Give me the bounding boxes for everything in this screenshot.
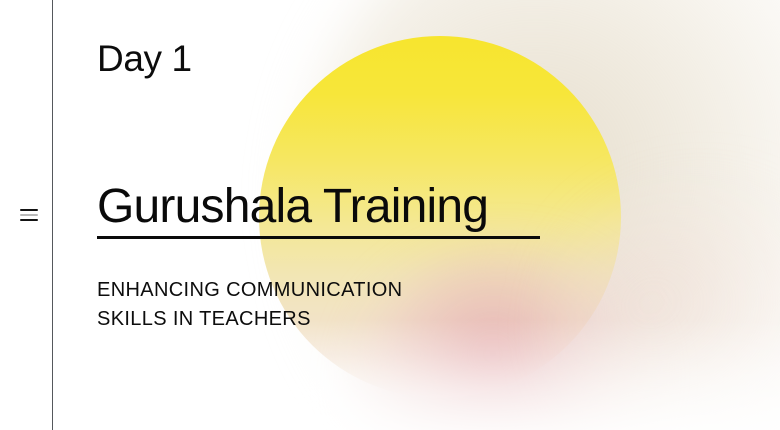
hamburger-bar-bottom <box>20 219 38 221</box>
hamburger-bar-middle <box>20 214 38 216</box>
slide-subtitle: ENHANCING COMMUNICATION SKILLS IN TEACHE… <box>97 276 402 334</box>
vertical-divider <box>52 0 53 430</box>
title-underline <box>97 236 540 239</box>
hamburger-bar-top <box>20 209 38 211</box>
title-block: Gurushala Training <box>97 181 540 239</box>
slide-content: Day 1 Gurushala Training ENHANCING COMMU… <box>97 0 737 430</box>
page-title: Gurushala Training <box>97 181 540 233</box>
slide-canvas: Day 1 Gurushala Training ENHANCING COMMU… <box>0 0 780 430</box>
day-label: Day 1 <box>97 40 192 79</box>
hamburger-menu-icon[interactable] <box>18 204 40 226</box>
